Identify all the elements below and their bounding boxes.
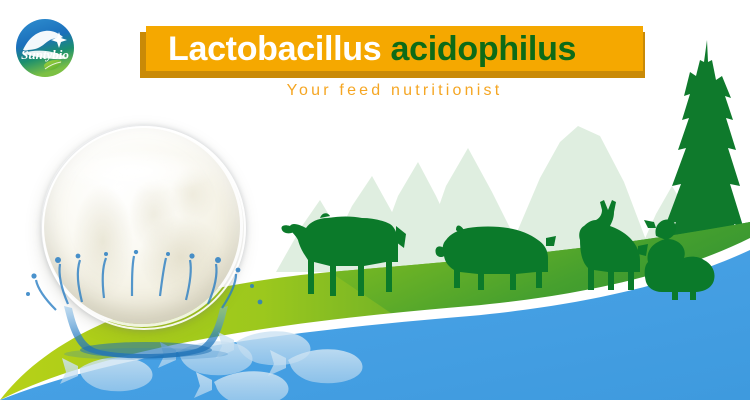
- title-secondary: acidophilus: [391, 30, 577, 68]
- water-splash: [20, 250, 270, 370]
- page-title: Lactobacillus acidophilus: [168, 32, 576, 66]
- page-subtitle: Your feed nutritionist: [146, 82, 643, 100]
- promo-banner: Suntybio Lactobacillus acidophilus Your …: [0, 0, 750, 400]
- title-banner: Lactobacillus acidophilus: [146, 26, 643, 71]
- title-primary: Lactobacillus: [168, 30, 381, 68]
- logo-wordmark: Suntybio: [21, 47, 69, 62]
- suntybio-logo[interactable]: Suntybio: [14, 17, 76, 79]
